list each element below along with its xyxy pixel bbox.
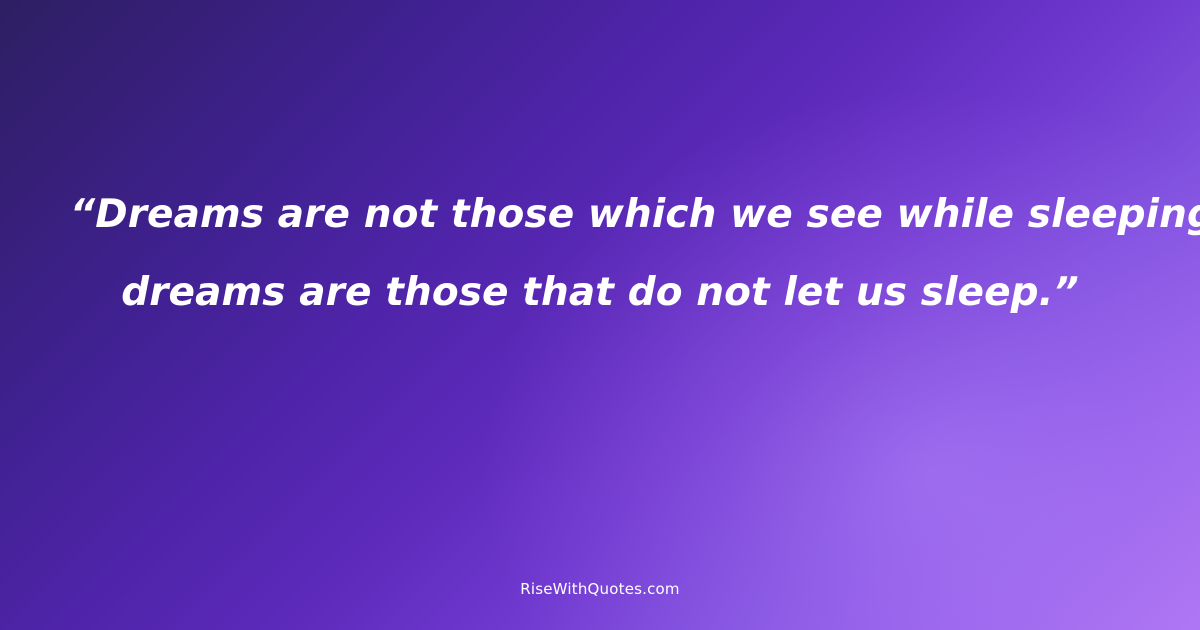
quote-card: “Dreams are not those which we see while… xyxy=(0,0,1200,630)
quote-line-2: dreams are those that do not let us slee… xyxy=(70,254,1130,332)
quote-line-1: “Dreams are not those which we see while… xyxy=(70,176,1130,254)
quote-text-block: “Dreams are not those which we see while… xyxy=(0,176,1200,332)
site-credit: RiseWithQuotes.com xyxy=(0,580,1200,598)
